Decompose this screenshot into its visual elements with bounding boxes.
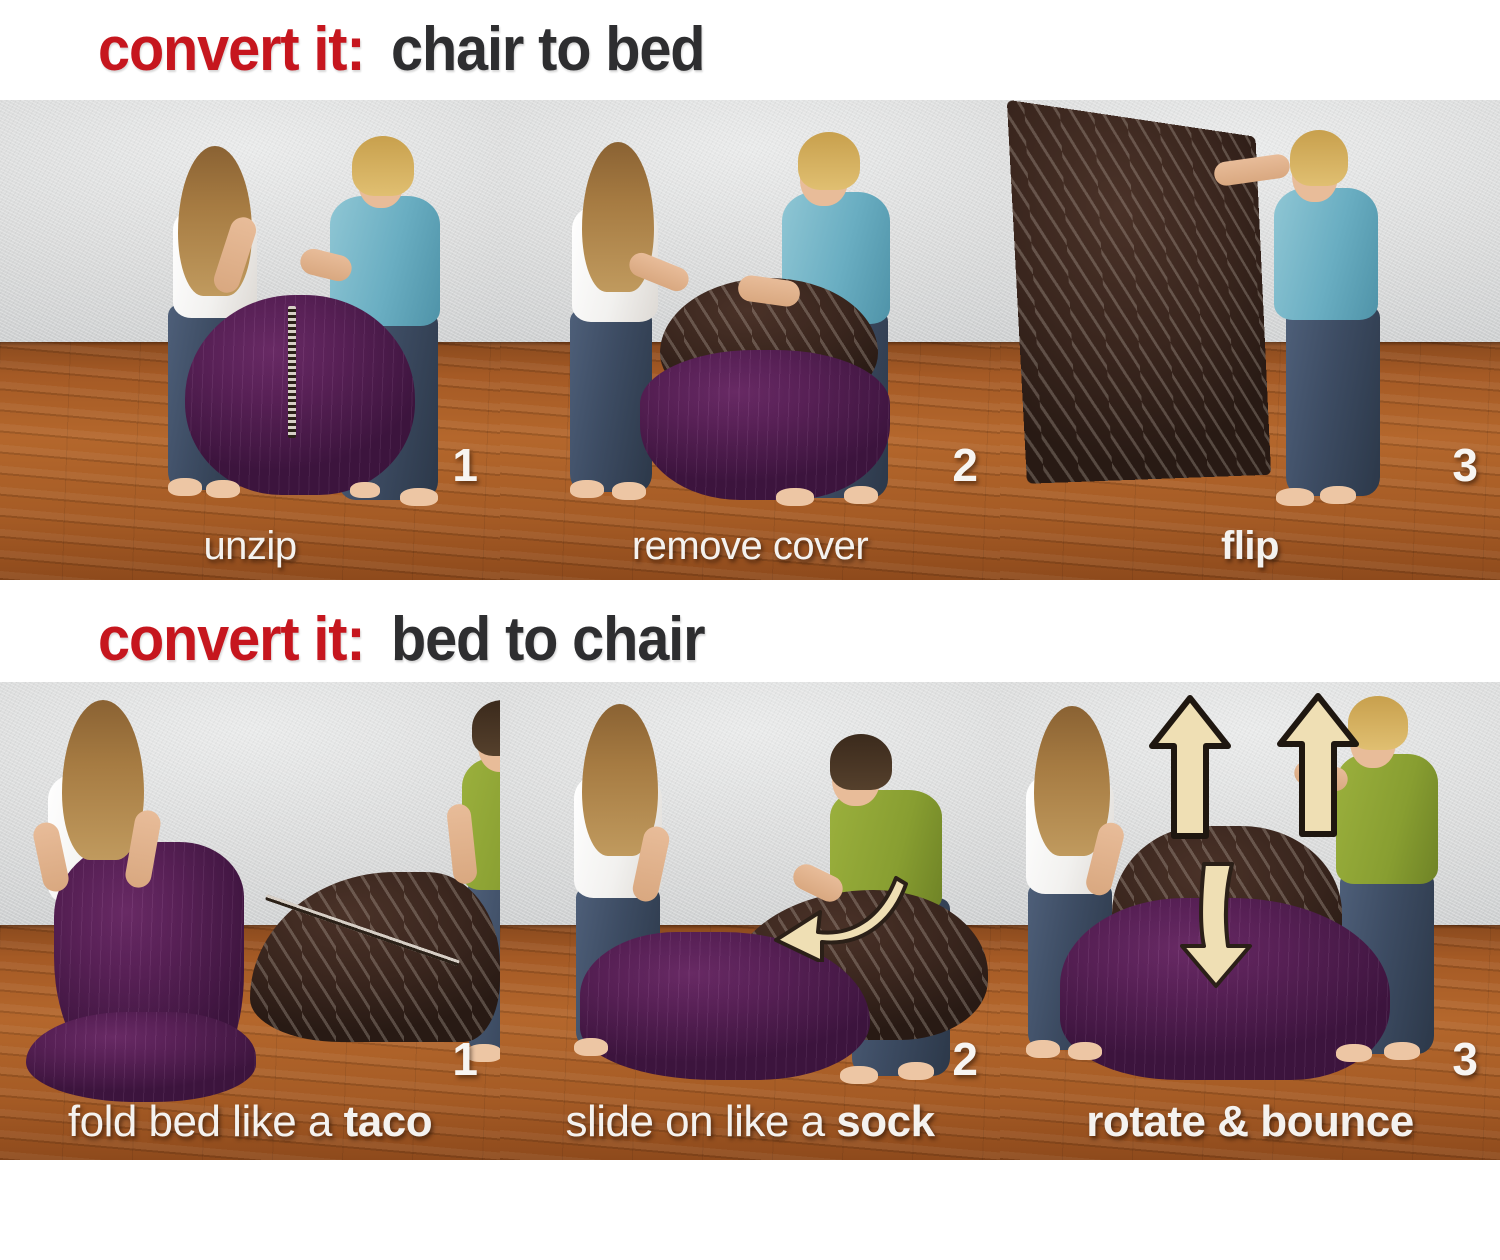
caption-plain-text: fold bed like a	[68, 1097, 344, 1146]
step-number: 1	[452, 442, 478, 488]
arrow-up-icon	[1148, 694, 1232, 840]
caption-bold-text: taco	[344, 1097, 432, 1146]
panel-caption: slide on like a sock	[500, 1100, 1000, 1144]
caption-bold-text: flip	[1221, 524, 1279, 568]
arrow-up-icon	[1276, 692, 1360, 838]
panel-chair-to-bed-step-3: 3 flip	[1000, 100, 1500, 580]
panel-caption: fold bed like a taco	[0, 1100, 500, 1144]
section-chair-to-bed-panels: 1 unzip	[0, 100, 1500, 580]
arrow-curved-left-icon	[768, 862, 908, 962]
beanbag-chair-purple	[185, 295, 415, 495]
beanbag-cover-purple	[640, 350, 890, 500]
caption-bold-text: rotate & bounce	[1086, 1097, 1413, 1146]
heading-subject-text: bed to chair	[391, 609, 704, 671]
caption-plain-text: remove cover	[632, 524, 868, 568]
heading-chair-to-bed: convert it:chair to bed	[0, 0, 1500, 100]
panel-bed-to-chair-step-2: 2 slide on like a sock	[500, 682, 1000, 1160]
panel-chair-to-bed-step-1: 1 unzip	[0, 100, 500, 580]
panel-bed-to-chair-step-3: 3 rotate & bounce	[1000, 682, 1500, 1160]
panel-caption: remove cover	[500, 526, 1000, 566]
convert-it-instruction-graphic: convert it:chair to bed	[0, 0, 1500, 1260]
step-number: 2	[952, 1036, 978, 1082]
section-bed-to-chair-panels: 1 fold bed like a taco	[0, 682, 1500, 1160]
step-number: 2	[952, 442, 978, 488]
panel-bed-to-chair-step-1: 1 fold bed like a taco	[0, 682, 500, 1160]
heading-brand-text: convert it:	[98, 609, 364, 671]
heading-brand-text: convert it:	[98, 19, 364, 81]
heading-bed-to-chair: convert it:bed to chair	[0, 590, 1500, 690]
step-number: 3	[1452, 1036, 1478, 1082]
caption-plain-text: slide on like a	[565, 1097, 836, 1146]
arrow-curved-down-icon	[1170, 858, 1262, 990]
panel-caption: rotate & bounce	[1000, 1100, 1500, 1144]
heading-subject-text: chair to bed	[391, 19, 704, 81]
zipper-icon	[288, 306, 296, 438]
panel-chair-to-bed-step-2: 2 remove cover	[500, 100, 1000, 580]
inner-liner-flipped	[1007, 100, 1271, 484]
step-number: 3	[1452, 442, 1478, 488]
panel-caption: unzip	[0, 526, 500, 566]
panel-caption: flip	[1000, 526, 1500, 566]
bed-cover-purple-pooled	[26, 1012, 256, 1102]
caption-plain-text: unzip	[203, 524, 296, 568]
folded-bed-taco	[250, 872, 500, 1042]
step-number: 1	[452, 1036, 478, 1082]
caption-bold-text: sock	[836, 1097, 934, 1146]
